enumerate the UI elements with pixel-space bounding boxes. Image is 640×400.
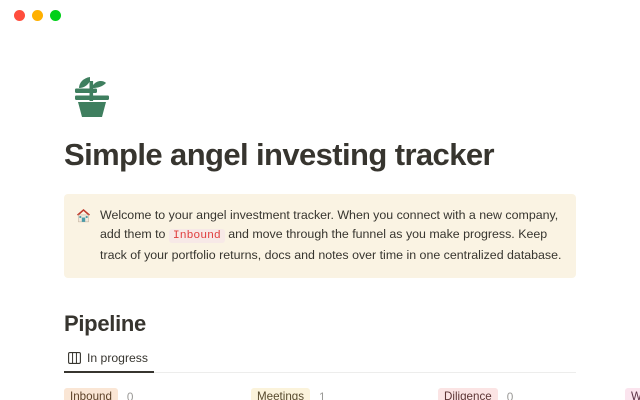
close-window-button[interactable] [14,10,25,21]
column-count: 0 [507,390,514,400]
pipeline-column-inbound[interactable]: Inbound 0 [64,388,251,400]
tab-label: In progress [87,351,148,365]
inbound-code-chip: Inbound [169,229,225,243]
traffic-lights [14,10,61,21]
status-badge: Inbound [64,388,118,400]
minimize-window-button[interactable] [32,10,43,21]
window-titlebar [0,0,640,30]
page-content: Simple angel investing tracker Welcome t… [0,63,640,400]
status-badge: Diligence [438,388,498,400]
house-emoji [76,206,91,223]
pipeline-tab-bar: In progress [64,351,576,373]
column-count: 1 [319,390,326,400]
tab-in-progress[interactable]: In progress [64,351,154,373]
maximize-window-button[interactable] [50,10,61,21]
pipeline-column-meetings[interactable]: Meetings 1 [251,388,438,400]
pipeline-column-won[interactable]: Won [625,388,640,400]
pipeline-column-diligence[interactable]: Diligence 0 [438,388,625,400]
status-badge: Meetings [251,388,310,400]
welcome-callout: Welcome to your angel investment tracker… [64,194,576,278]
board-view-icon [68,352,81,364]
column-count: 0 [127,390,134,400]
callout-text: Welcome to your angel investment tracker… [100,206,562,265]
potted-plant-icon[interactable] [64,63,120,119]
page-title: Simple angel investing tracker [64,137,576,173]
status-badge: Won [625,388,640,400]
pipeline-column-headers: Inbound 0 Meetings 1 Diligence 0 Won [64,388,640,400]
pipeline-heading: Pipeline [64,311,576,337]
